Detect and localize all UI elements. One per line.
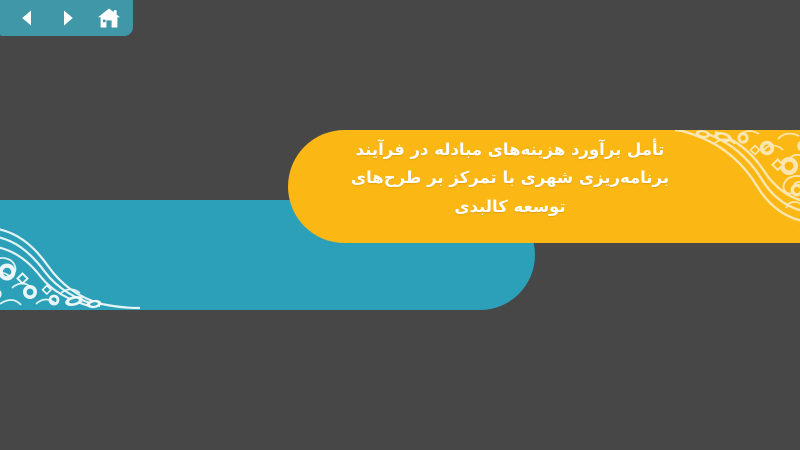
title-line-2: برنامه‌ریزی شهری با تمرکز بر طرح‌های [300, 164, 720, 192]
back-icon [17, 8, 37, 28]
page-title: تأمل برآورد هزینه‌های مبادله در فرآیند ب… [300, 136, 720, 221]
arabesque-corner-ornament-teal [0, 200, 140, 310]
presentation-slide: تأمل برآورد هزینه‌های مبادله در فرآیند ب… [0, 0, 800, 450]
title-line-1: تأمل برآورد هزینه‌های مبادله در فرآیند [300, 136, 720, 164]
home-button[interactable] [96, 5, 122, 31]
back-button[interactable] [14, 5, 40, 31]
title-line-3: توسعه کالبدی [300, 193, 720, 221]
navigation-bar [0, 0, 133, 36]
home-icon [97, 7, 121, 30]
forward-button[interactable] [55, 5, 81, 31]
forward-icon [58, 8, 78, 28]
